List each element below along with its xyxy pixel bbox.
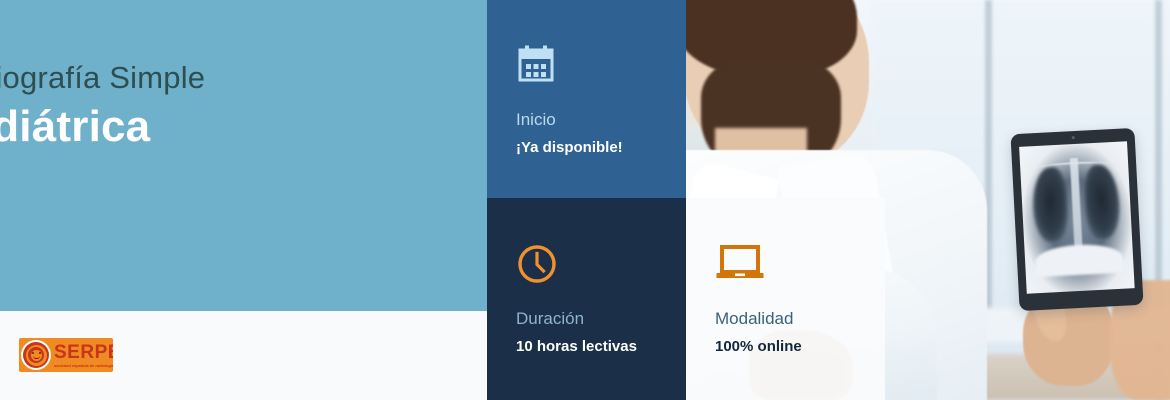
info-card-value: 10 horas lectivas [516,338,686,356]
info-card-value: ¡Ya disponible! [516,139,686,157]
laptop-icon [715,243,885,287]
serpe-logo-name: SERPE [54,343,113,362]
hero-title-line1: Radiografía Simple [0,60,498,97]
serpe-logo[interactable]: SERPE sociedad española de radiología pe… [19,338,113,372]
clock-icon [516,243,686,287]
hero-panel: Radiografía Simple Pediátrica [0,0,487,311]
serpe-logo-text: SERPE sociedad española de radiología pe… [53,343,113,368]
info-card-label: Modalidad [715,309,885,329]
info-card-label: Inicio [516,110,686,130]
info-card-inicio[interactable]: Inicio ¡Ya disponible! [487,0,686,198]
info-card-duracion[interactable]: Duración 10 horas lectivas [487,198,686,400]
tablet-device [1010,128,1143,311]
chest-xray-image [1019,141,1135,293]
hero-title-line2: Pediátrica [0,101,498,154]
calendar-icon [516,44,686,88]
info-card-value: 100% online [715,338,885,356]
serpe-sun-face-icon [19,338,53,372]
serpe-logo-subtitle: sociedad española de radiología pediátri… [54,364,113,368]
hero-title-block: Radiografía Simple Pediátrica [0,60,498,153]
course-banner: Radiografía Simple Pediátrica SERPE soci… [0,0,1170,400]
tablet-camera [1071,136,1074,139]
info-card-modalidad[interactable]: Modalidad 100% online [686,198,885,400]
info-card-label: Duración [516,309,686,329]
